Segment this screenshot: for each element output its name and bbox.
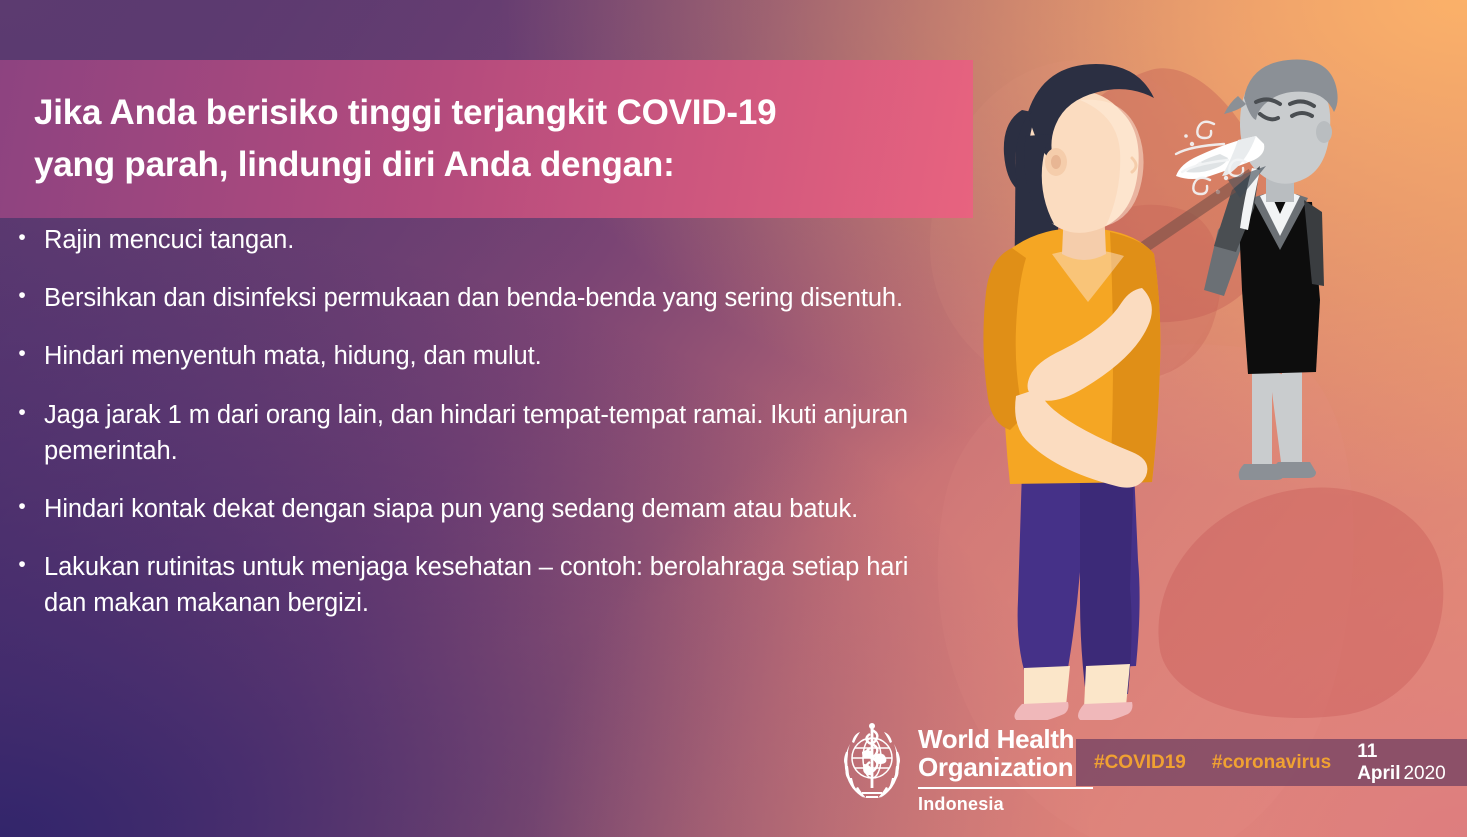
title-band: Jika Anda berisiko tinggi terjangkit COV… [0,60,973,218]
date-year: 2020 [1403,763,1445,784]
background-blob-light-top [930,60,1230,400]
distance-arrow-icon [1064,166,1266,312]
woman-crossed-arms-figure [983,64,1160,720]
who-emblem-icon [836,722,908,800]
list-item: • Hindari kontak dekat dengan siapa pun … [0,491,960,527]
list-item-label: Bersihkan dan disinfeksi permukaan dan b… [44,280,903,316]
bullet-marker-icon: • [0,222,44,253]
hashtag-coronavirus[interactable]: #coronavirus [1212,752,1331,774]
bullet-marker-icon: • [0,338,44,369]
title-line-2: yang parah, lindungi diri Anda dengan: [34,139,776,191]
background-blob-red-bottom [1140,471,1459,739]
list-item: • Hindari menyentuh mata, hidung, dan mu… [0,338,960,374]
list-item: • Jaga jarak 1 m dari orang lain, dan hi… [0,397,960,469]
bullet-marker-icon: • [0,549,44,580]
list-item-label: Lakukan rutinitas untuk menjaga kesehata… [44,549,914,621]
bullet-marker-icon: • [0,280,44,311]
list-item-label: Hindari kontak dekat dengan siapa pun ya… [44,491,858,527]
list-item: • Rajin mencuci tangan. [0,222,960,258]
infographic-slide: Jika Anda berisiko tinggi terjangkit COV… [0,0,1467,837]
list-item: • Lakukan rutinitas untuk menjaga keseha… [0,549,960,621]
bullet-marker-icon: • [0,397,44,428]
illustration-group [960,40,1467,720]
man-sneezing-figure [1176,60,1338,480]
who-country-label: Indonesia [918,794,1093,815]
list-item-label: Hindari menyentuh mata, hidung, dan mulu… [44,338,542,374]
list-item: • Bersihkan dan disinfeksi permukaan dan… [0,280,960,316]
hashtag-covid19[interactable]: #COVID19 [1094,752,1186,774]
advice-list: • Rajin mencuci tangan. • Bersihkan dan … [0,222,960,644]
who-divider [918,787,1093,789]
who-wordmark: World Health Organization Indonesia [918,722,1093,815]
page-title: Jika Anda berisiko tinggi terjangkit COV… [0,87,810,191]
who-line-1: World Health [918,725,1093,753]
background-blob-red-mid [1034,178,1246,402]
who-line-2: Organization [918,753,1093,781]
background-blob-red-top [1007,46,1303,355]
list-item-label: Jaga jarak 1 m dari orang lain, dan hind… [44,397,914,469]
list-item-label: Rajin mencuci tangan. [44,222,294,258]
sneeze-particles-icon [1176,122,1246,194]
who-logo: World Health Organization Indonesia [836,722,1093,815]
publication-date: 11 April2020 [1357,741,1467,785]
title-line-1: Jika Anda berisiko tinggi terjangkit COV… [34,87,776,139]
hashtag-bar: #COVID19 #coronavirus 11 April2020 [1076,739,1467,786]
bullet-marker-icon: • [0,491,44,522]
date-day-month: 11 April [1357,741,1400,784]
